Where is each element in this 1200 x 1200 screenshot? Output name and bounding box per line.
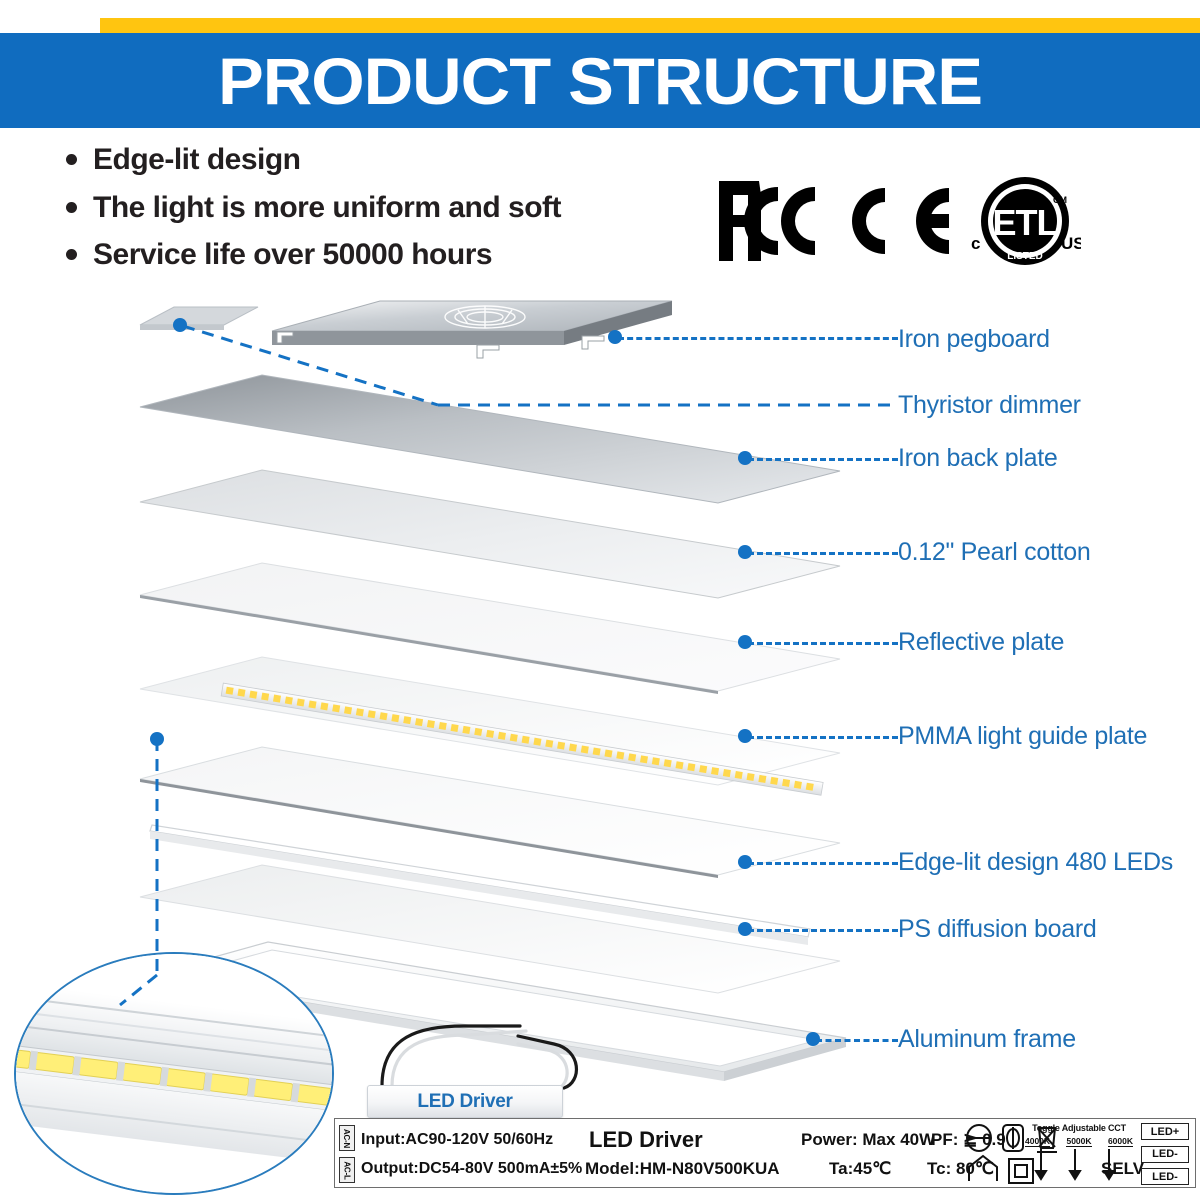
leader-pmma: [748, 736, 898, 739]
spec-input: Input:AC90-120V 50/60Hz: [361, 1131, 553, 1149]
terminal-ac-l-label: AC-L: [343, 1161, 352, 1179]
svg-text:ETL: ETL: [993, 202, 1058, 243]
page-title: PRODUCT STRUCTURE: [0, 33, 1200, 128]
callout-dot-reflective-plate: [738, 635, 752, 649]
leader-iron-pegboard: [618, 337, 898, 340]
cct-arrows-icon: [1023, 1147, 1135, 1181]
layer-thyristor-dimmer-bar: [140, 301, 260, 331]
spec-model: Model:HM-N80V500KUA: [585, 1159, 780, 1179]
cct-toggle-block: Toggle Adjustable CCT 4000K 5000K 6000K: [1023, 1123, 1135, 1185]
svg-text:CM: CM: [1053, 195, 1067, 205]
fcc-logo-icon: [715, 175, 823, 267]
label-ps-diffusion-board: PS diffusion board: [898, 915, 1096, 944]
certification-logos: c ETL LISTED CM US: [715, 168, 1081, 273]
header-yellow-accent-bar: [100, 18, 1200, 33]
label-thyristor-dimmer: Thyristor dimmer: [898, 391, 1081, 420]
layer-iron-pegboard: [272, 301, 692, 371]
label-reflective-plate: Reflective plate: [898, 628, 1064, 657]
indoor-use-icon: [969, 1156, 997, 1181]
leader-edge-lit-leds: [748, 862, 898, 865]
leader-pearl-cotton: [748, 552, 898, 555]
label-aluminum-frame: Aluminum frame: [898, 1025, 1076, 1054]
list-item: Service life over 50000 hours: [66, 235, 746, 275]
callout-dot-iron-pegboard: [608, 330, 622, 344]
layer-led-strip: [222, 683, 842, 833]
label-pmma-light-guide: PMMA light guide plate: [898, 722, 1147, 751]
feature-text: The light is more uniform and soft: [93, 188, 561, 228]
svg-text:LISTED: LISTED: [1007, 251, 1043, 262]
product-structure-infographic: PRODUCT STRUCTURE Edge-lit design The li…: [0, 0, 1200, 1200]
terminal-ac-l: AC-L: [339, 1157, 355, 1183]
callout-dot-thyristor-origin: [173, 318, 187, 332]
spec-power: Power: Max 40W: [801, 1130, 935, 1150]
cct-title: Toggle Adjustable CCT: [1023, 1123, 1135, 1133]
spec-driver-name: LED Driver: [589, 1127, 703, 1153]
callout-dot-edge-lit-origin: [150, 732, 164, 746]
leader-reflective-plate: [748, 642, 898, 645]
spec-ta: Ta:45℃: [829, 1159, 891, 1179]
terminal-ac-n-label: AC-N: [343, 1128, 352, 1147]
cct-values: 4000K 5000K 6000K: [1023, 1136, 1135, 1147]
terminal-led-minus-1: LED-: [1141, 1146, 1189, 1163]
leader-iron-back-plate: [748, 458, 898, 461]
label-iron-pegboard: Iron pegboard: [898, 325, 1050, 354]
svg-text:US: US: [1061, 234, 1081, 253]
terminal-led-minus-2: LED-: [1141, 1168, 1189, 1185]
label-iron-back-plate: Iron back plate: [898, 444, 1058, 473]
callout-dot-pmma: [738, 729, 752, 743]
bullet-dot-icon: [66, 154, 77, 165]
led-driver-module: LED Driver: [367, 1085, 563, 1118]
label-edge-lit-leds: Edge-lit design 480 LEDs: [898, 848, 1173, 877]
feature-text: Service life over 50000 hours: [93, 235, 492, 275]
leader-ps-diffusion: [748, 929, 898, 932]
feature-text: Edge-lit design: [93, 140, 301, 180]
cct-value-6000k: 6000K: [1108, 1136, 1133, 1147]
spec-output: Output:DC54-80V 500mA±5%: [361, 1160, 582, 1178]
svg-text:c: c: [971, 234, 980, 253]
callout-dot-pearl-cotton: [738, 545, 752, 559]
etl-logo-icon: c ETL LISTED CM US: [969, 173, 1081, 269]
driver-spec-panel: AC-N AC-L Input:AC90-120V 50/60Hz LED Dr…: [334, 1118, 1196, 1188]
led-strip-closeup-magnifier: [14, 952, 334, 1195]
callout-dot-iron-back-plate: [738, 451, 752, 465]
callout-dot-aluminum-frame: [806, 1032, 820, 1046]
terminal-ac-n: AC-N: [339, 1125, 355, 1151]
callout-dot-edge-lit-leds: [738, 855, 752, 869]
led-driver-box-label: LED Driver: [417, 1091, 512, 1113]
leader-aluminum-frame: [816, 1039, 898, 1042]
list-item: Edge-lit design: [66, 140, 746, 180]
feature-list: Edge-lit design The light is more unifor…: [66, 140, 746, 283]
bullet-dot-icon: [66, 249, 77, 260]
bullet-dot-icon: [66, 202, 77, 213]
ce-logo-icon: [837, 182, 955, 260]
list-item: The light is more uniform and soft: [66, 188, 746, 228]
ac-terminals: AC-N AC-L: [339, 1123, 357, 1185]
label-pearl-cotton: 0.12" Pearl cotton: [898, 538, 1091, 567]
cct-value-4000k: 4000K: [1025, 1136, 1050, 1147]
led-output-terminals: LED+ LED- LED-: [1141, 1123, 1189, 1185]
callout-dot-ps-diffusion: [738, 922, 752, 936]
terminal-led-plus: LED+: [1141, 1123, 1189, 1140]
cct-value-5000k: 5000K: [1066, 1136, 1091, 1147]
